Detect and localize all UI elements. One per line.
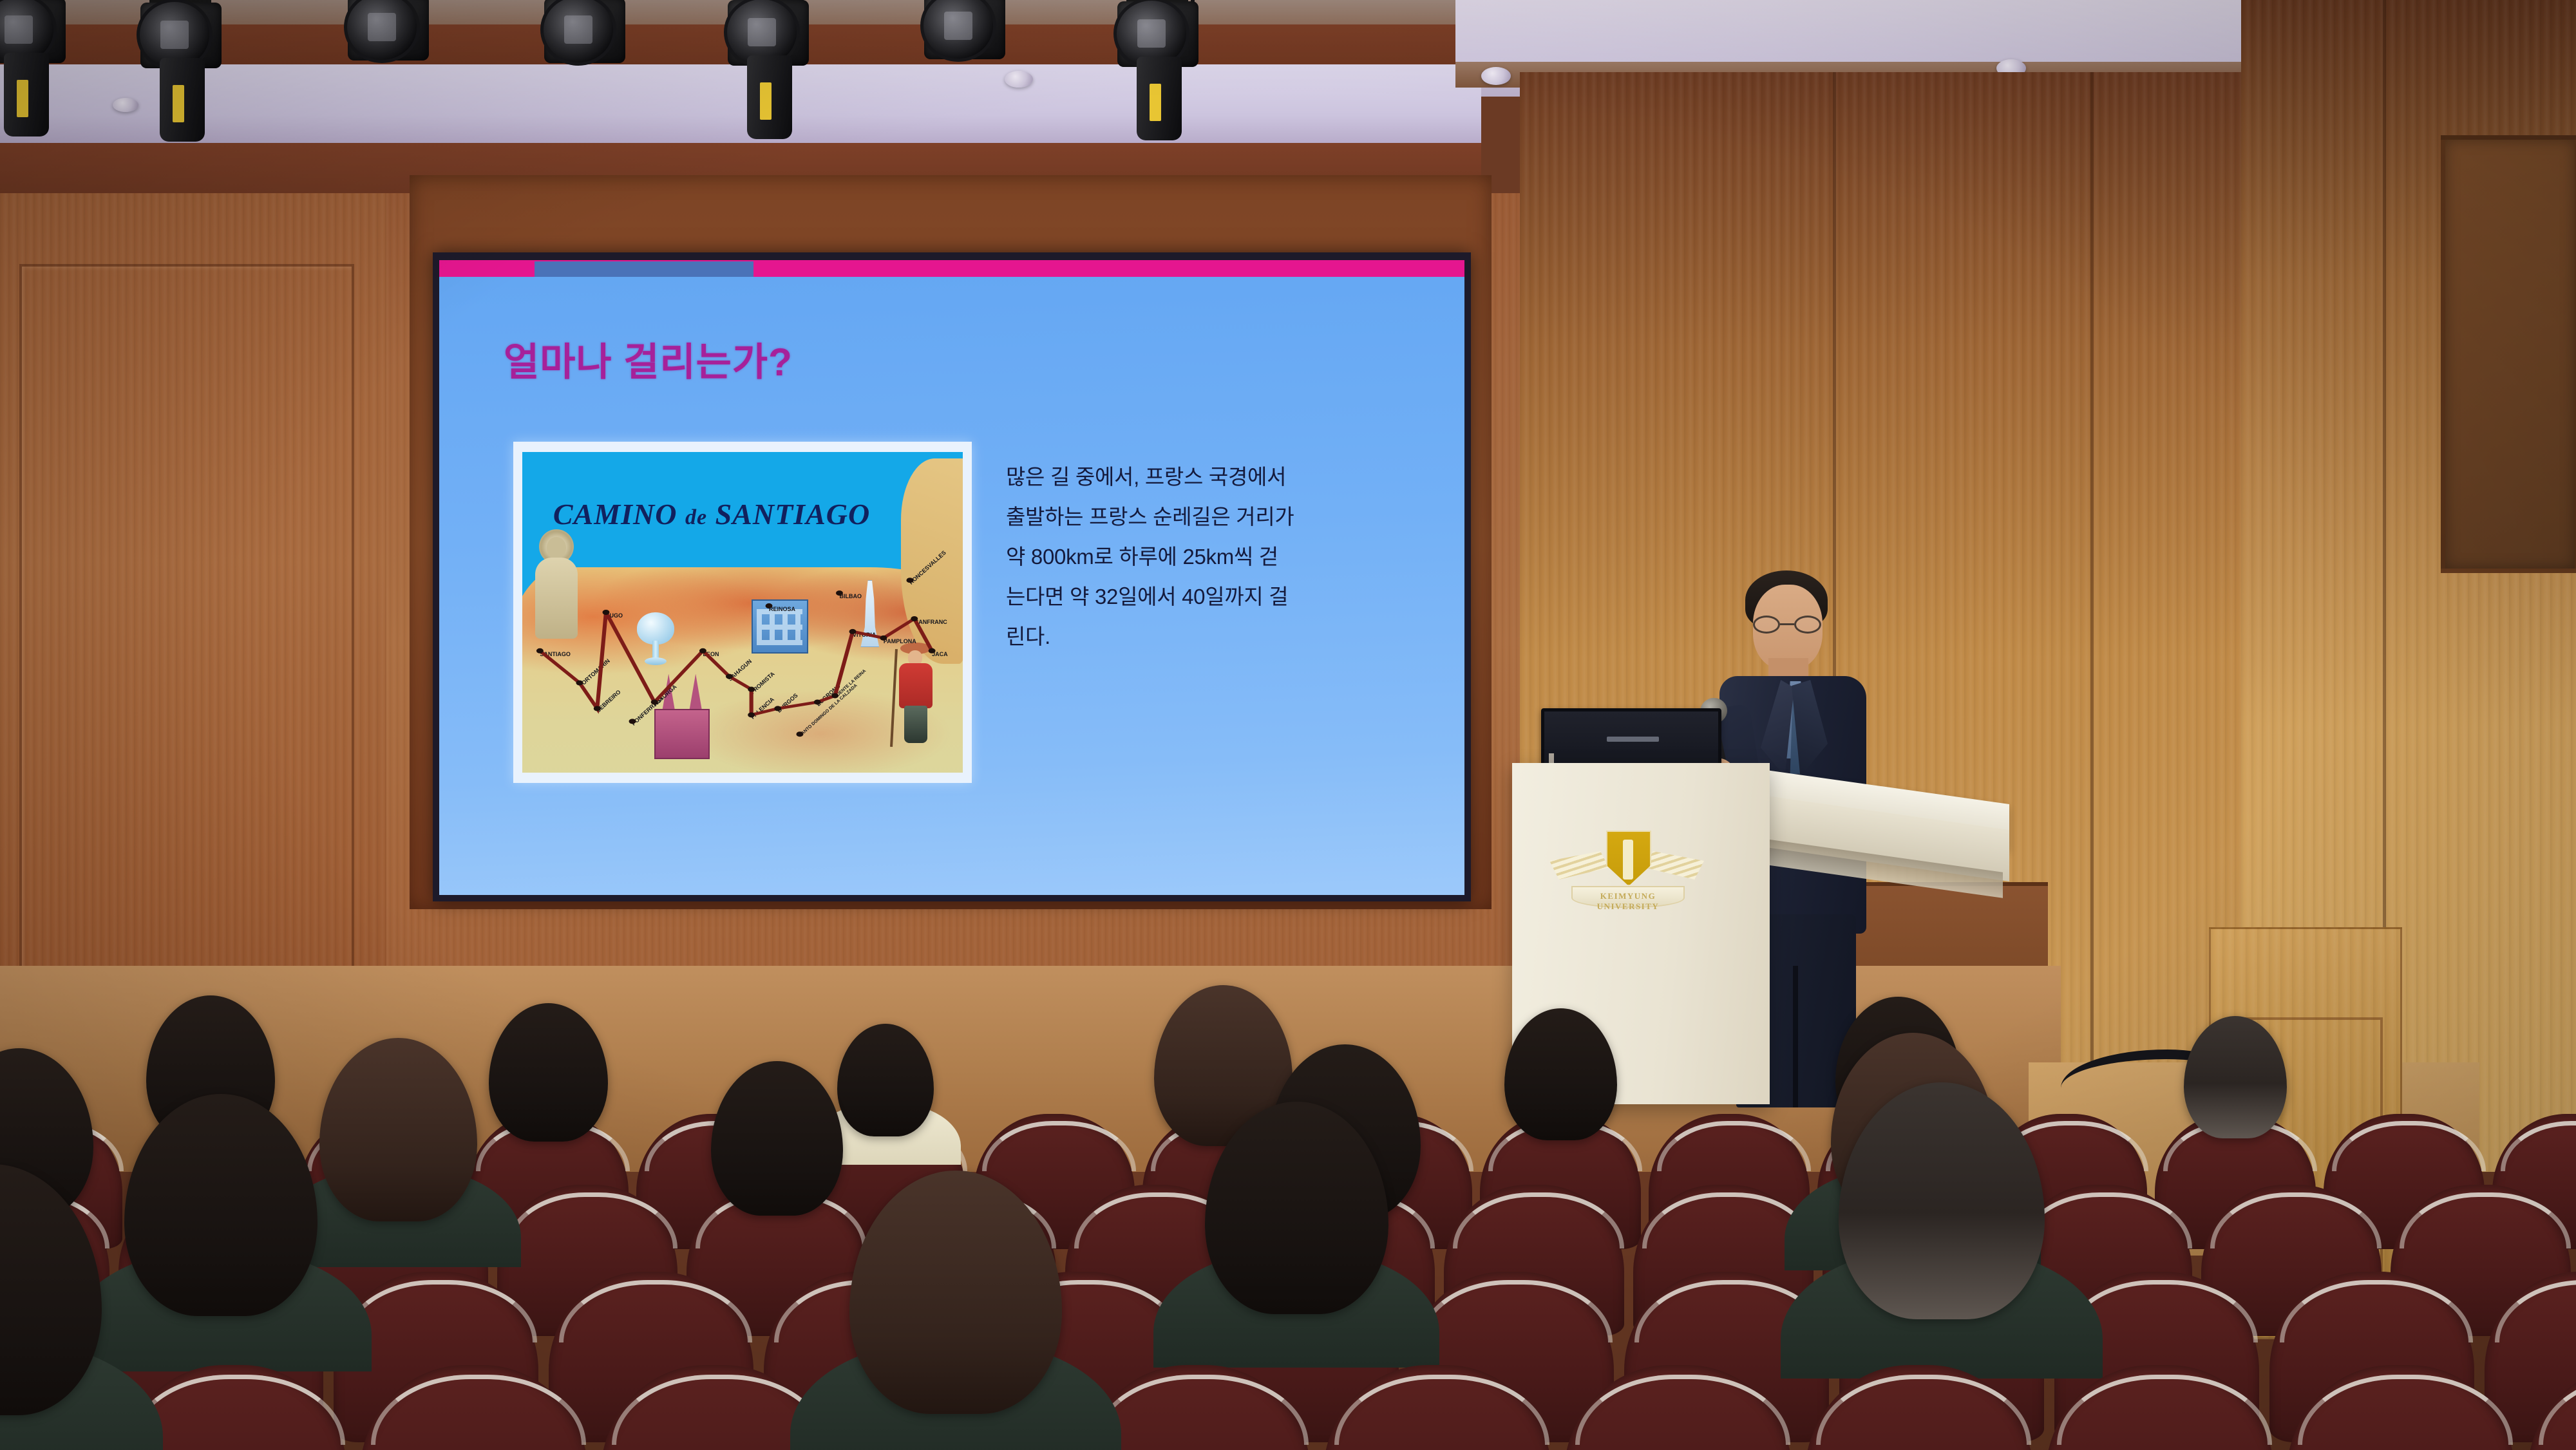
map-canvas: CAMINO de SANTIAGO	[522, 452, 963, 773]
university-emblem: KEIMYUNG UNIVERSITY	[1547, 824, 1708, 927]
recessed-downlight-icon	[1481, 67, 1511, 85]
eyeglasses-icon	[1753, 616, 1821, 634]
glasses-lens-right	[1794, 616, 1821, 634]
confidence-monitor	[1541, 708, 1721, 771]
emblem-wing-left	[1549, 851, 1609, 880]
emblem-wing-right	[1645, 851, 1704, 880]
slide-body-text: 많은 길 중에서, 프랑스 국경에서 출발하는 프랑스 순레길은 거리가 약 8…	[1006, 457, 1386, 657]
camino-route-line	[522, 452, 963, 773]
lecture-hall-photo: 얼마나 걸리는가? CAMINO de SANTIAGO	[0, 0, 2576, 1450]
camino-map-image: CAMINO de SANTIAGO	[513, 442, 972, 783]
glasses-bridge	[1780, 623, 1794, 625]
right-wall-framed-panel	[2441, 135, 2576, 573]
slide-body-line: 는다면 약 32일에서 40일까지 걸	[1006, 577, 1386, 617]
slide-accent-bar	[439, 260, 1464, 277]
projected-slide: 얼마나 걸리는가? CAMINO de SANTIAGO	[439, 260, 1464, 895]
slide-body-line: 약 800km로 하루에 25km씩 걷	[1006, 537, 1386, 577]
wall-panel-inset	[19, 264, 354, 972]
trouser-seam	[1793, 966, 1798, 1107]
emblem-ribbon: KEIMYUNG UNIVERSITY	[1571, 886, 1685, 908]
slide-body-line: 출발하는 프랑스 순레길은 거리가	[1006, 497, 1386, 537]
slide-accent-bar-segment	[535, 261, 753, 277]
slide-body-line: 린다.	[1006, 617, 1386, 657]
ceiling-light-cove	[0, 64, 1481, 149]
emblem-text: KEIMYUNG UNIVERSITY	[1573, 891, 1683, 912]
emblem-torch-icon	[1623, 840, 1633, 880]
slide-title: 얼마나 걸리는가?	[504, 331, 793, 387]
wall-seam	[2090, 72, 2094, 1115]
slide-body-line: 많은 길 중에서, 프랑스 국경에서	[1006, 457, 1386, 497]
recessed-downlight-icon	[113, 98, 138, 112]
recessed-downlight-icon	[1005, 71, 1033, 88]
glasses-lens-left	[1753, 616, 1780, 634]
